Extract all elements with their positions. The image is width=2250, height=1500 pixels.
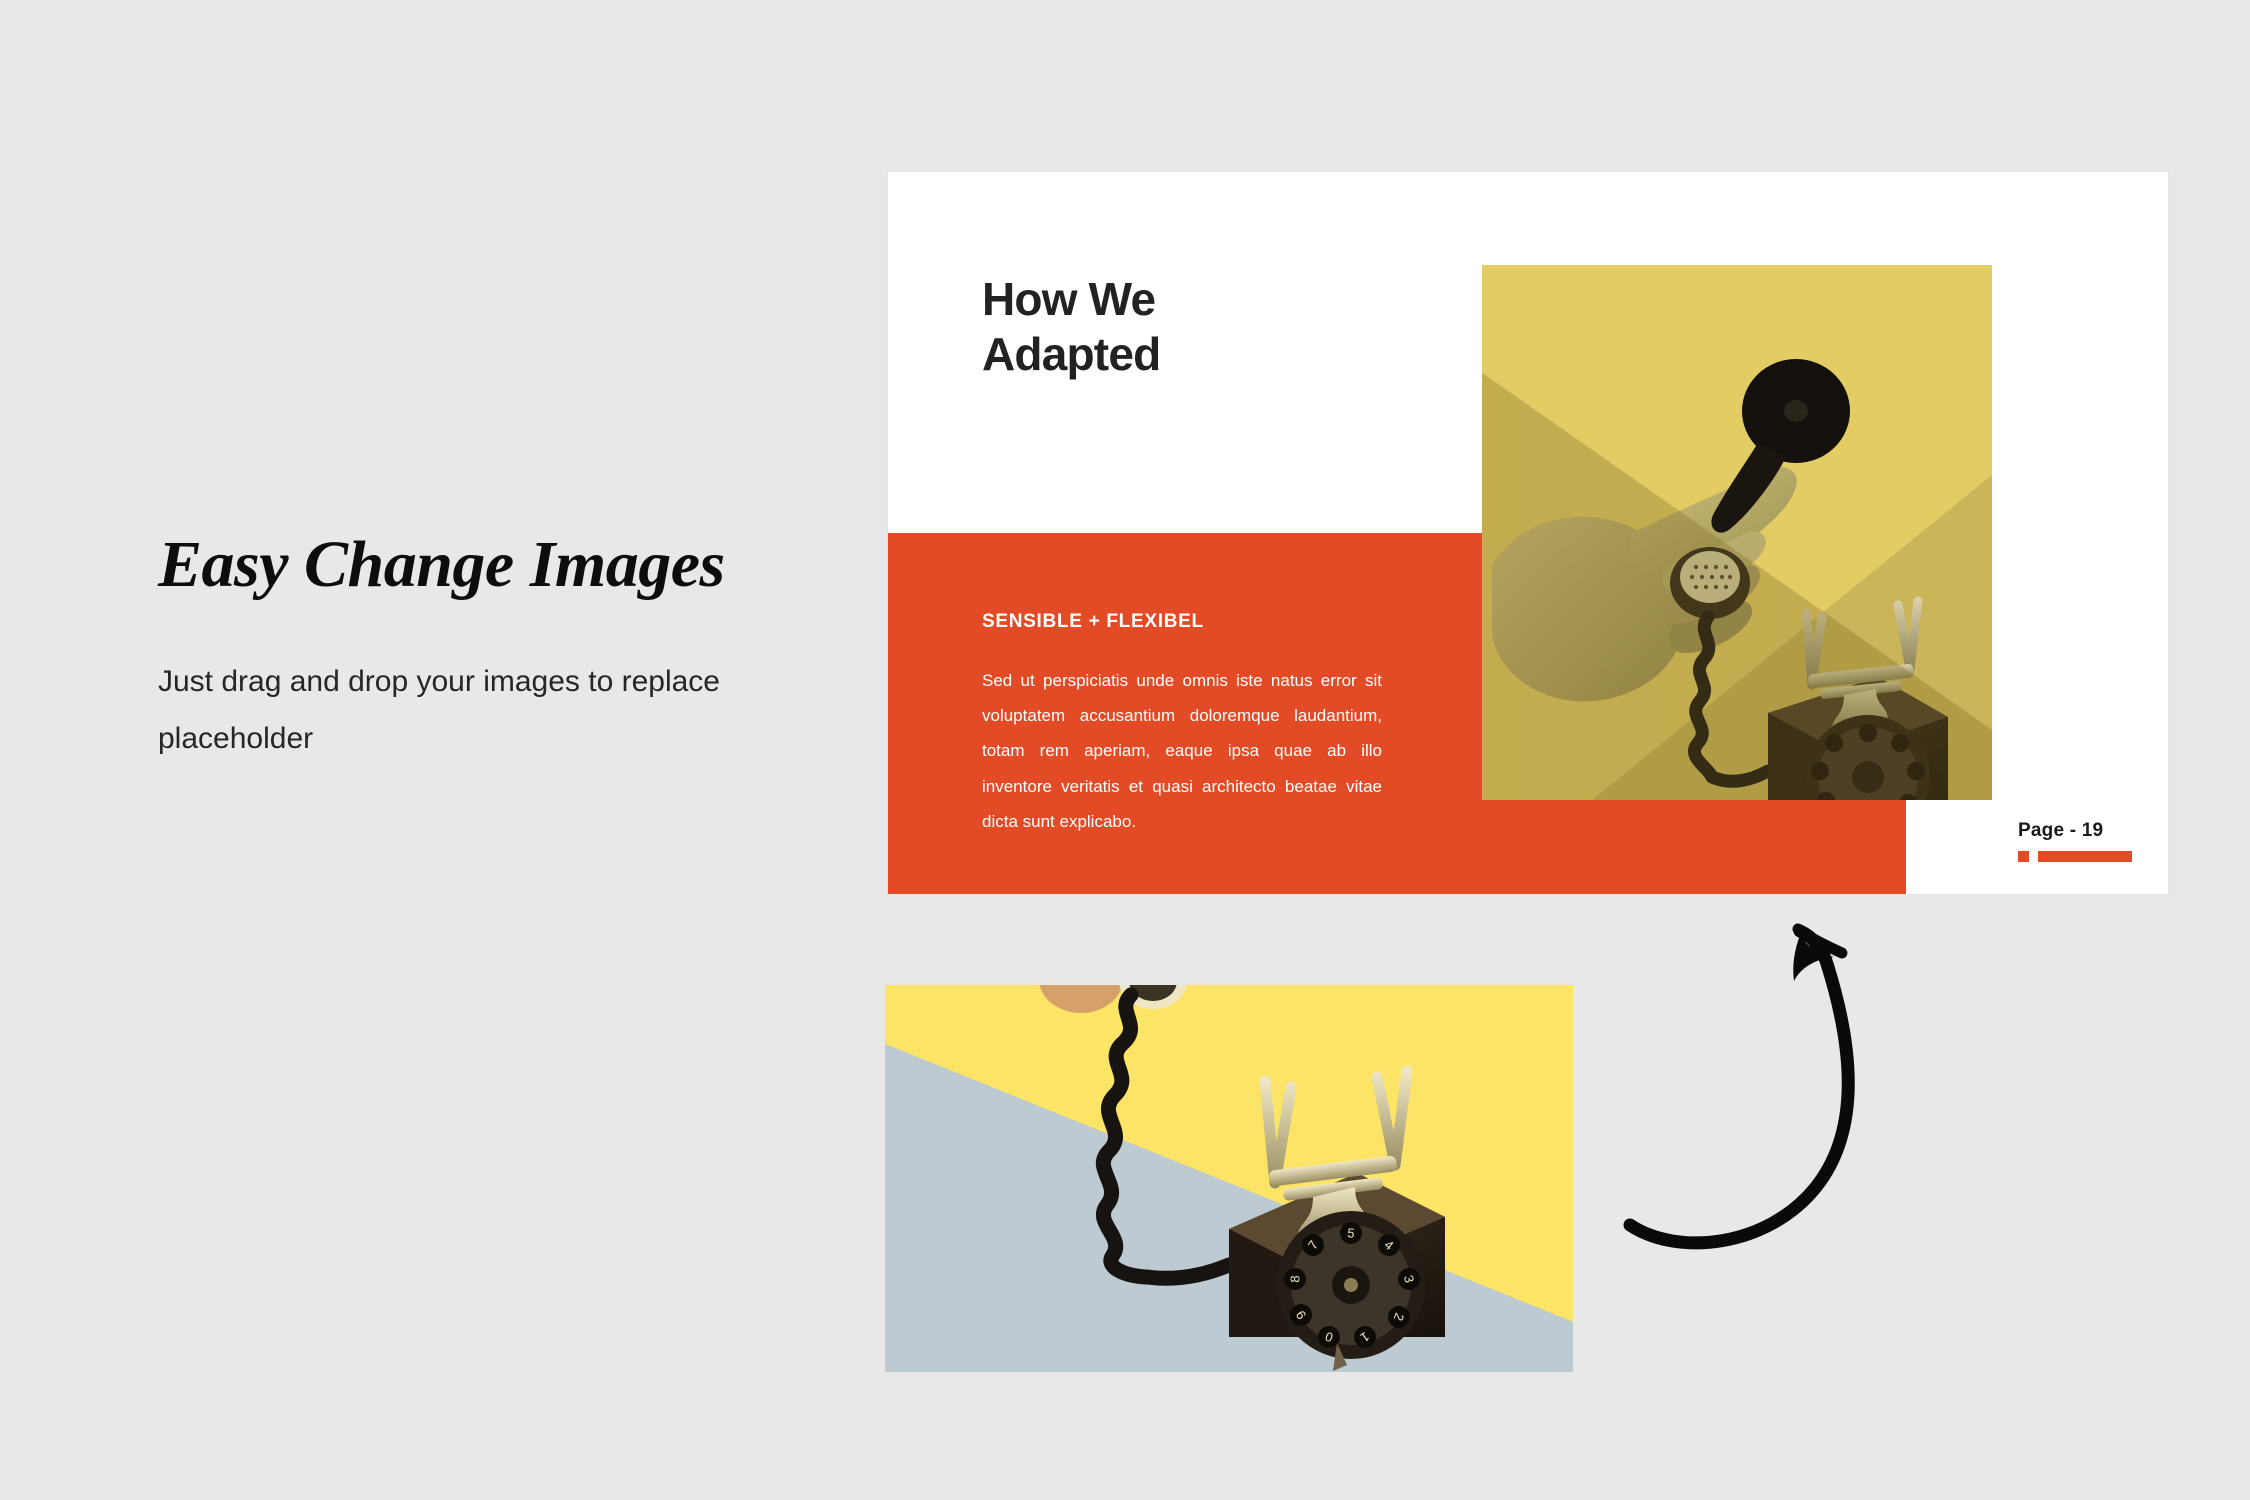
telephone-photo-illustration-icon: 5 4 3 2 1 0 9 8 7 — [885, 985, 1573, 1372]
page-title: Easy Change Images — [158, 530, 838, 599]
page-number-label: Page - 19 — [2018, 820, 2132, 842]
slide-title: How We Adapted — [982, 272, 1160, 382]
page-rule — [2018, 851, 2132, 862]
page-rule-bar — [2038, 851, 2132, 862]
source-image-thumbnail[interactable]: 5 4 3 2 1 0 9 8 7 — [885, 985, 1573, 1372]
promo-subtitle: Just drag and drop your images to replac… — [158, 653, 798, 767]
svg-text:8: 8 — [1288, 1275, 1303, 1282]
curved-drag-arrow-icon — [1600, 895, 1930, 1255]
slide-footer: Page - 19 — [2018, 820, 2132, 862]
promo-text-block: Easy Change Images Just drag and drop yo… — [158, 530, 838, 767]
page-rule-dot — [2018, 851, 2029, 862]
svg-text:5: 5 — [1347, 1225, 1356, 1241]
slide-preview[interactable]: How We Adapted SENSIBLE + FLEXIBEL Sed u… — [888, 172, 2168, 894]
photo-shadow-wedge — [1482, 265, 1992, 800]
slide-photo-placeholder[interactable] — [1482, 265, 1992, 800]
slide-body-text: Sed ut perspiciatis unde omnis iste natu… — [982, 663, 1382, 839]
slide-eyebrow-heading: SENSIBLE + FLEXIBEL — [982, 611, 1204, 633]
